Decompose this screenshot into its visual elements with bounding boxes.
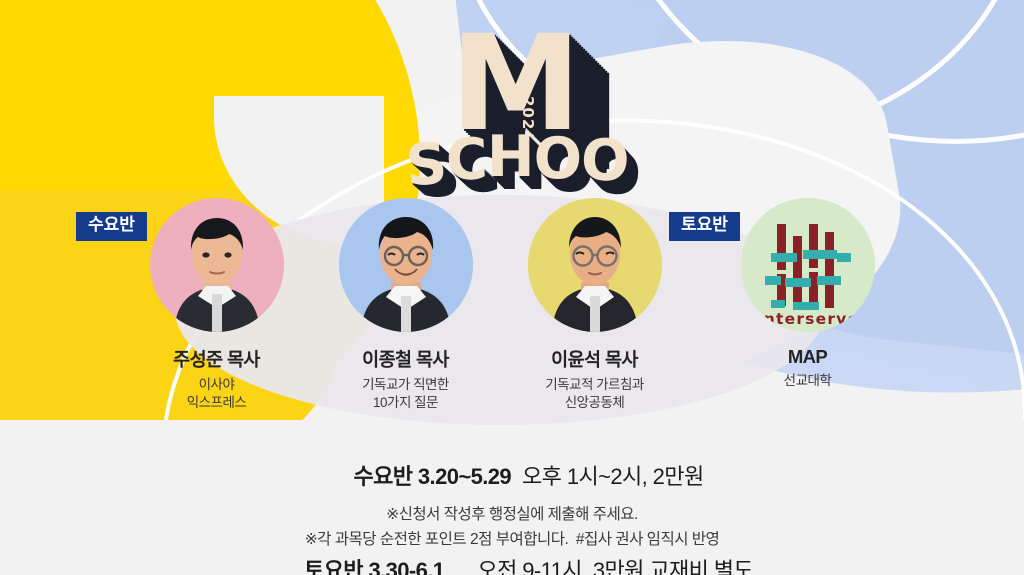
logo-letter-s: S (404, 131, 449, 200)
portrait-illustration-1 (150, 198, 284, 332)
interserve-logo-icon: Interserve (741, 198, 875, 332)
instructor-name-3: 이윤석 목사 (512, 346, 677, 372)
schedule-date-saturday: 3.30-6.1 (368, 558, 444, 575)
instructor-card-1[interactable]: 수요반 (134, 198, 299, 412)
portrait-illustration-3 (528, 198, 662, 332)
instructor-name-4: MAP (725, 346, 890, 368)
avatar-4-interserve: Interserve (741, 198, 875, 332)
logo-letter-c: C (445, 126, 488, 193)
instructor-name-2: 이종철 목사 (323, 346, 488, 372)
poster-canvas: M 2024 SCHOOL 수요반 (0, 0, 1024, 575)
instructor-card-3[interactable]: 이윤석 목사 기독교적 가르침과 신앙공동체 (512, 198, 677, 412)
avatar-3 (528, 198, 662, 332)
instructor-desc-1: 이사야 익스프레스 (134, 376, 299, 412)
notes-block: ※신청서 작성후 행정실에 제출해 주세요. ※각 과목당 순전한 포인트 2점… (0, 502, 1024, 552)
schedule-detail-saturday: 오전 9-11시, 3만원 교재비 별도 (477, 558, 753, 575)
logo-letter-h: H (487, 124, 534, 190)
instructor-desc-2: 기독교가 직면한 10가지 질문 (323, 376, 488, 412)
schedule-label-saturday: 토요반 (304, 558, 363, 575)
schedule-detail-wednesday: 오후 1시~2시, 2만원 (522, 464, 704, 489)
instructor-card-4[interactable]: 토요반 (725, 198, 890, 412)
logo-letter-o2: O (580, 127, 630, 195)
schedule-date-wednesday: 3.20~5.29 (418, 464, 511, 489)
note-line-2: ※각 과목당 순전한 포인트 2점 부여합니다. #집사 권사 임직시 반영 (0, 527, 1024, 552)
avatar-2 (339, 198, 473, 332)
m-school-logo: M 2024 SCHOOL (400, 34, 650, 184)
svg-text:Interserve: Interserve (756, 310, 858, 328)
portrait-illustration-2 (339, 198, 473, 332)
schedule-label-wednesday: 수요반 (353, 464, 412, 489)
logo-letter-o1: O (534, 126, 581, 192)
instructor-desc-3: 기독교적 가르침과 신앙공동체 (512, 376, 677, 412)
badge-saturday: 토요반 (669, 212, 740, 241)
badge-wednesday: 수요반 (76, 212, 147, 241)
avatar-1 (150, 198, 284, 332)
instructor-desc-4: 선교대학 (725, 372, 890, 390)
instructor-name-1: 주성준 목사 (134, 346, 299, 372)
note-line-1: ※신청서 작성후 행정실에 제출해 주세요. (0, 502, 1024, 527)
instructor-list: 수요반 (0, 198, 1024, 412)
instructor-card-2[interactable]: 이종철 목사 기독교가 직면한 10가지 질문 (323, 198, 488, 412)
